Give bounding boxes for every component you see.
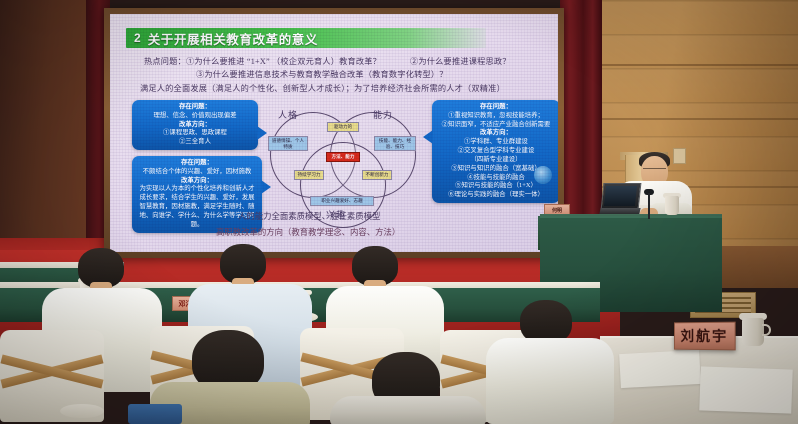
- presenter-nameplate: 刘航宇: [674, 322, 736, 351]
- audience-torso-front: [330, 396, 486, 424]
- projector-light-blob: [534, 166, 552, 184]
- callout-problem: 不颇结合个体的兴趣、爱好，因材施教: [143, 168, 252, 175]
- projection-screen-frame: 2 关于开展相关教育改革的意义 热点问题：①为什么要推进 “1+X” （校企双元…: [104, 8, 564, 258]
- cup-handle: [762, 324, 771, 336]
- callout-item: ②交叉复合型学科专业建设: [458, 147, 535, 154]
- presentation-room-photo: 2 关于开展相关教育改革的意义 热点问题：①为什么要推进 “1+X” （校企双元…: [0, 0, 798, 424]
- slide-title-bar: 2 关于开展相关教育改革的意义: [126, 28, 486, 48]
- paper-sheet: [619, 350, 701, 388]
- venn-chip-driver: 驱动力的: [327, 122, 359, 132]
- microphone-stand: [648, 193, 650, 219]
- wall-seam: [596, 118, 798, 120]
- callout-left-problems-values: 存在问题： 理想、信念、价值观出现偏差 改革方向： ①课程思政、思政课程 ②三全…: [132, 100, 258, 150]
- callout-item: ①课程思政、思政课程: [163, 129, 227, 136]
- projection-screen: 2 关于开展相关教育改革的意义 热点问题：①为什么要推进 “1+X” （校企双元…: [110, 14, 558, 252]
- venn-label-ability: 能力: [373, 108, 393, 121]
- callout-problem: ②知识面窄，不适应产业融合创新需要: [442, 121, 551, 128]
- callout-heading: 存在问题：: [437, 103, 555, 112]
- venn-chip-innovation-power: 不断创新力: [362, 170, 392, 180]
- slide-conclusion-line-1: 人的能力全面素质模型、胜任素质模型: [238, 210, 380, 222]
- audience-torso: [486, 338, 614, 424]
- callout-item: （四新专业建设）: [470, 156, 521, 163]
- callout-right-problems-skills: 存在问题： ①重视知识教育，忽视技能培养； ②知识面窄，不适应产业融合创新需要 …: [432, 100, 558, 203]
- tablet-device[interactable]: [128, 404, 182, 424]
- slide-title-number: 2: [134, 31, 141, 45]
- slide-title-text: 关于开展相关教育改革的意义: [148, 29, 318, 48]
- callout-heading: 存在问题：: [137, 159, 257, 168]
- callout-item: ②三全育人: [179, 138, 211, 145]
- paper-sheet: [699, 366, 792, 413]
- callout-problem: 理想、信念、价值观出现偏差: [153, 112, 236, 119]
- slide-hot-topic-line-1b: ②为什么要推进课程思政？: [410, 55, 511, 67]
- venn-chip-moral-traits: 道德情操、个人特质: [268, 136, 308, 151]
- callout-item: ⑤知识与技能的融合（1+X）: [455, 182, 537, 189]
- presenter-nameplate-text: 刘航宇: [681, 326, 729, 346]
- venn-diagram: 人格 能力 兴趣 驱动力的 道德情操、个人特质 技能、能力、经验、技巧 方法、能…: [270, 96, 418, 222]
- glasses-icon: [643, 168, 666, 172]
- callout-item: ①学科群、专业群建设: [464, 138, 528, 145]
- venn-chip-vocational-interest: 职业兴趣爱好、志趣: [310, 196, 374, 206]
- laptop-screen[interactable]: [604, 186, 637, 206]
- saucer: [60, 404, 104, 418]
- front-tea-cup: [742, 318, 764, 346]
- presenter-tea-cup: [665, 196, 679, 215]
- callout-item: ④技能与技能的融合: [467, 174, 525, 181]
- slide-hot-topic-line-2: ③为什么要推进信息技术与教育教学融合改革（教育数字化转型）？: [196, 68, 448, 80]
- venn-label-personality: 人格: [278, 108, 298, 121]
- callout-heading: 存在问题：: [137, 103, 253, 112]
- slide-hot-topic-line-1: 热点问题：①为什么要推进 “1+X” （校企双元育人）教育改革？: [144, 55, 381, 67]
- presentation-slide: 2 关于开展相关教育改革的意义 热点问题：①为什么要推进 “1+X” （校企双元…: [110, 14, 558, 252]
- wall-seam: [596, 64, 798, 66]
- laptop-keyboard[interactable]: [599, 208, 640, 214]
- wall-left: [0, 0, 96, 262]
- slide-hot-topic-line-3: 满足人的全面发展（满足人的个性化、创新型人才成长）；为了培养经济社会所需的人才（…: [140, 82, 505, 94]
- callout-item: ⑥理论与实践的融合（理实一体）: [448, 191, 544, 198]
- venn-chip-skills-experience: 技能、能力、经验、技巧: [374, 136, 416, 151]
- callout-problem: ①重视知识教育，忽视技能培养；: [448, 112, 544, 119]
- callout-item: ③知识与知识的融合（宽基础）: [451, 165, 540, 172]
- slide-conclusion-line-2: 高职教改革的方向（教育教学理念、内容、方法）: [216, 226, 400, 238]
- venn-chip-core-method-ability: 方法、能力: [326, 152, 360, 162]
- callout-direction-heading: 改革方向：: [437, 129, 555, 138]
- venn-chip-learning-power: 持续学习力: [294, 170, 324, 180]
- wall-outlet: [673, 148, 686, 164]
